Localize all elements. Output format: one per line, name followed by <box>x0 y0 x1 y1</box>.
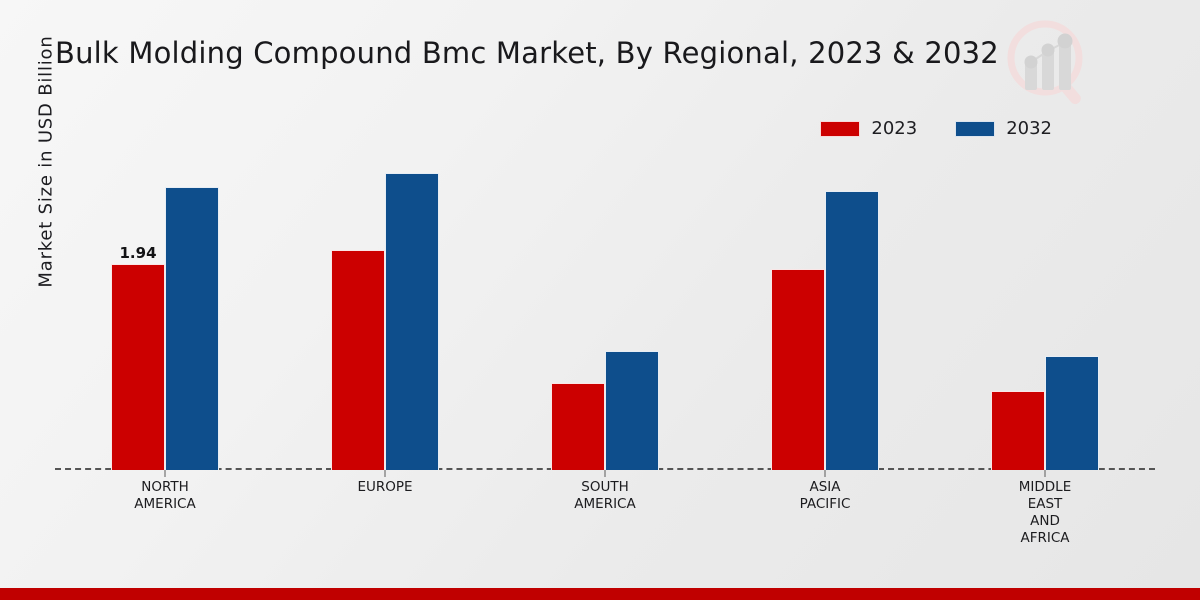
bar-2032[interactable] <box>825 191 879 470</box>
chart-title: Bulk Molding Compound Bmc Market, By Reg… <box>55 36 999 70</box>
x-axis-tick <box>605 470 606 477</box>
bar-pair: 1.94 <box>111 130 219 470</box>
chart-canvas: Bulk Molding Compound Bmc Market, By Reg… <box>0 0 1200 600</box>
bar-pair <box>331 130 439 470</box>
x-axis-tick <box>165 470 166 477</box>
bar-2023[interactable]: 1.94 <box>111 264 165 470</box>
x-axis-tick <box>825 470 826 477</box>
bar-value-label: 1.94 <box>119 244 156 262</box>
bar-2023[interactable] <box>331 250 385 470</box>
bar-group: EUROPE <box>275 130 495 470</box>
x-axis-category-label: NORTHAMERICA <box>134 479 195 513</box>
bar-2032[interactable] <box>165 187 219 470</box>
x-axis-category-label: ASIAPACIFIC <box>800 479 851 513</box>
x-axis-category-label: SOUTHAMERICA <box>574 479 635 513</box>
bar-pair <box>771 130 879 470</box>
x-axis-tick <box>1045 470 1046 477</box>
bar-2023[interactable] <box>551 383 605 470</box>
bar-group: SOUTHAMERICA <box>495 130 715 470</box>
magnifier-bar-chart-logo-icon <box>1005 18 1095 110</box>
bar-2032[interactable] <box>385 173 439 471</box>
bar-2032[interactable] <box>605 351 659 470</box>
bar-2023[interactable] <box>991 391 1045 470</box>
bar-pair <box>991 130 1099 470</box>
bar-2023[interactable] <box>771 269 825 470</box>
bar-groups: 1.94NORTHAMERICAEUROPESOUTHAMERICAASIAPA… <box>55 130 1155 470</box>
bar-group: MIDDLEEASTANDAFRICA <box>935 130 1155 470</box>
x-axis-category-label: MIDDLEEASTANDAFRICA <box>1019 479 1071 547</box>
bottom-accent-band <box>0 588 1200 600</box>
x-axis-category-label: EUROPE <box>357 479 412 496</box>
bar-group: 1.94NORTHAMERICA <box>55 130 275 470</box>
bar-group: ASIAPACIFIC <box>715 130 935 470</box>
x-axis-tick <box>385 470 386 477</box>
bar-2032[interactable] <box>1045 356 1099 470</box>
plot-area: 1.94NORTHAMERICAEUROPESOUTHAMERICAASIAPA… <box>55 130 1155 470</box>
y-axis-title: Market Size in USD Billion <box>36 0 57 327</box>
bar-pair <box>551 130 659 470</box>
